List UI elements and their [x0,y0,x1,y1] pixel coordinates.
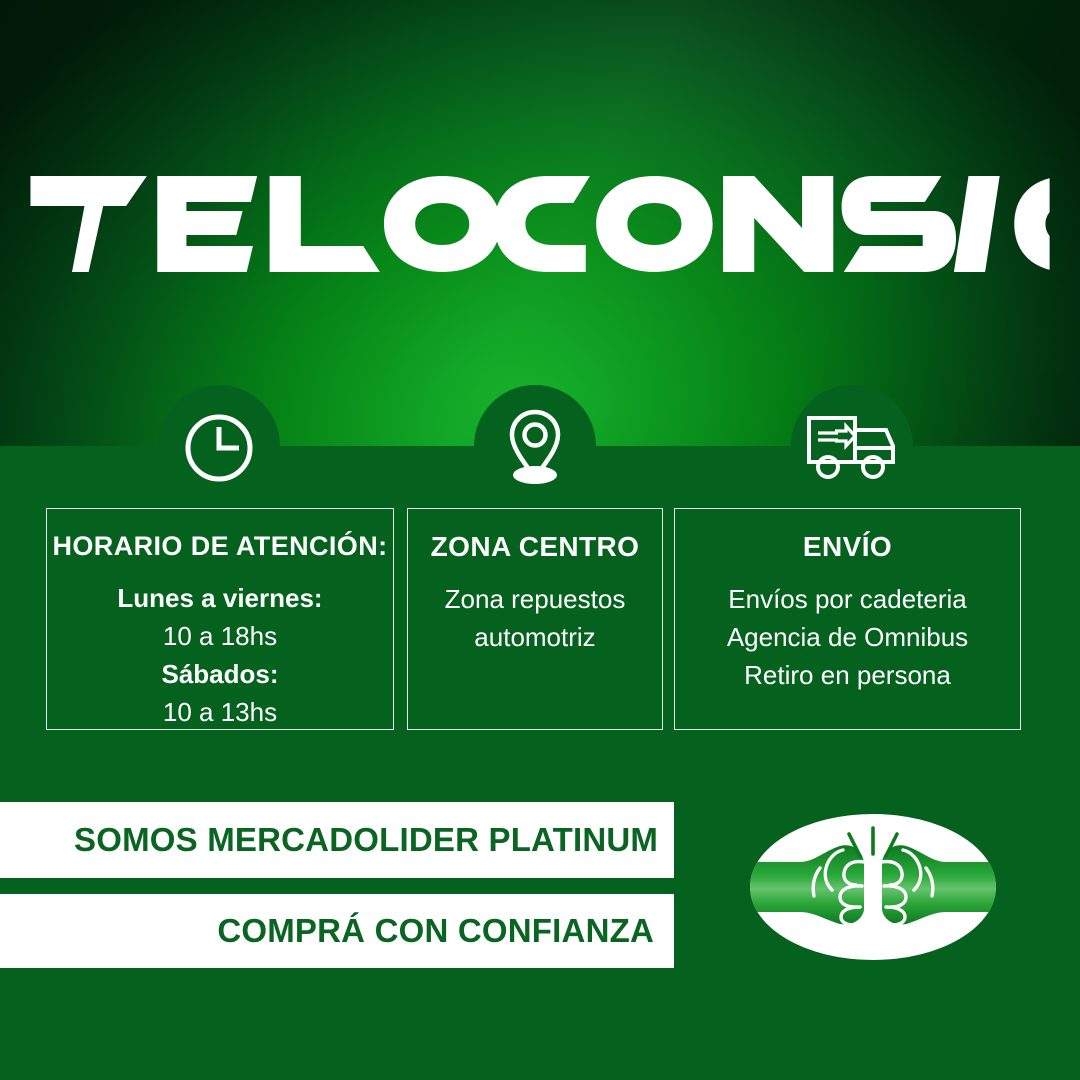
card-line: Retiro en persona [675,657,1020,695]
card-line: 10 a 13hs [47,694,393,732]
banner-confianza: COMPRÁ CON CONFIANZA [0,894,674,968]
brand-logotype-svg [30,176,1049,272]
card-title: HORARIO DE ATENCIÓN: [47,531,393,562]
banner-label: SOMOS MERCADOLIDER PLATINUM [74,821,658,859]
card-line: Sábados: [47,656,393,694]
card-line: Zona repuestos [408,581,662,619]
card-line: automotriz [408,619,662,657]
card-line: Lunes a viernes: [47,580,393,618]
promo-banner-canvas: HORARIO DE ATENCIÓN: Lunes a viernes: 10… [0,0,1080,1080]
location-pin-icon [474,398,596,494]
card-line: 10 a 18hs [47,618,393,656]
fist-bump-icon [748,806,998,968]
info-card-envio: ENVÍO Envíos por cadeteria Agencia de Om… [674,508,1021,730]
banner-label: COMPRÁ CON CONFIANZA [217,912,654,950]
brand-wordmark [0,176,1080,272]
card-title: ZONA CENTRO [408,531,662,563]
clock-icon [158,398,280,494]
card-line: Envíos por cadeteria [675,581,1020,619]
info-card-zona: ZONA CENTRO Zona repuestos automotriz [407,508,663,730]
banner-mercadolider: SOMOS MERCADOLIDER PLATINUM [0,802,674,878]
delivery-truck-icon [791,398,913,494]
card-title: ENVÍO [675,531,1020,563]
card-line: Agencia de Omnibus [675,619,1020,657]
info-card-horario: HORARIO DE ATENCIÓN: Lunes a viernes: 10… [46,508,394,730]
